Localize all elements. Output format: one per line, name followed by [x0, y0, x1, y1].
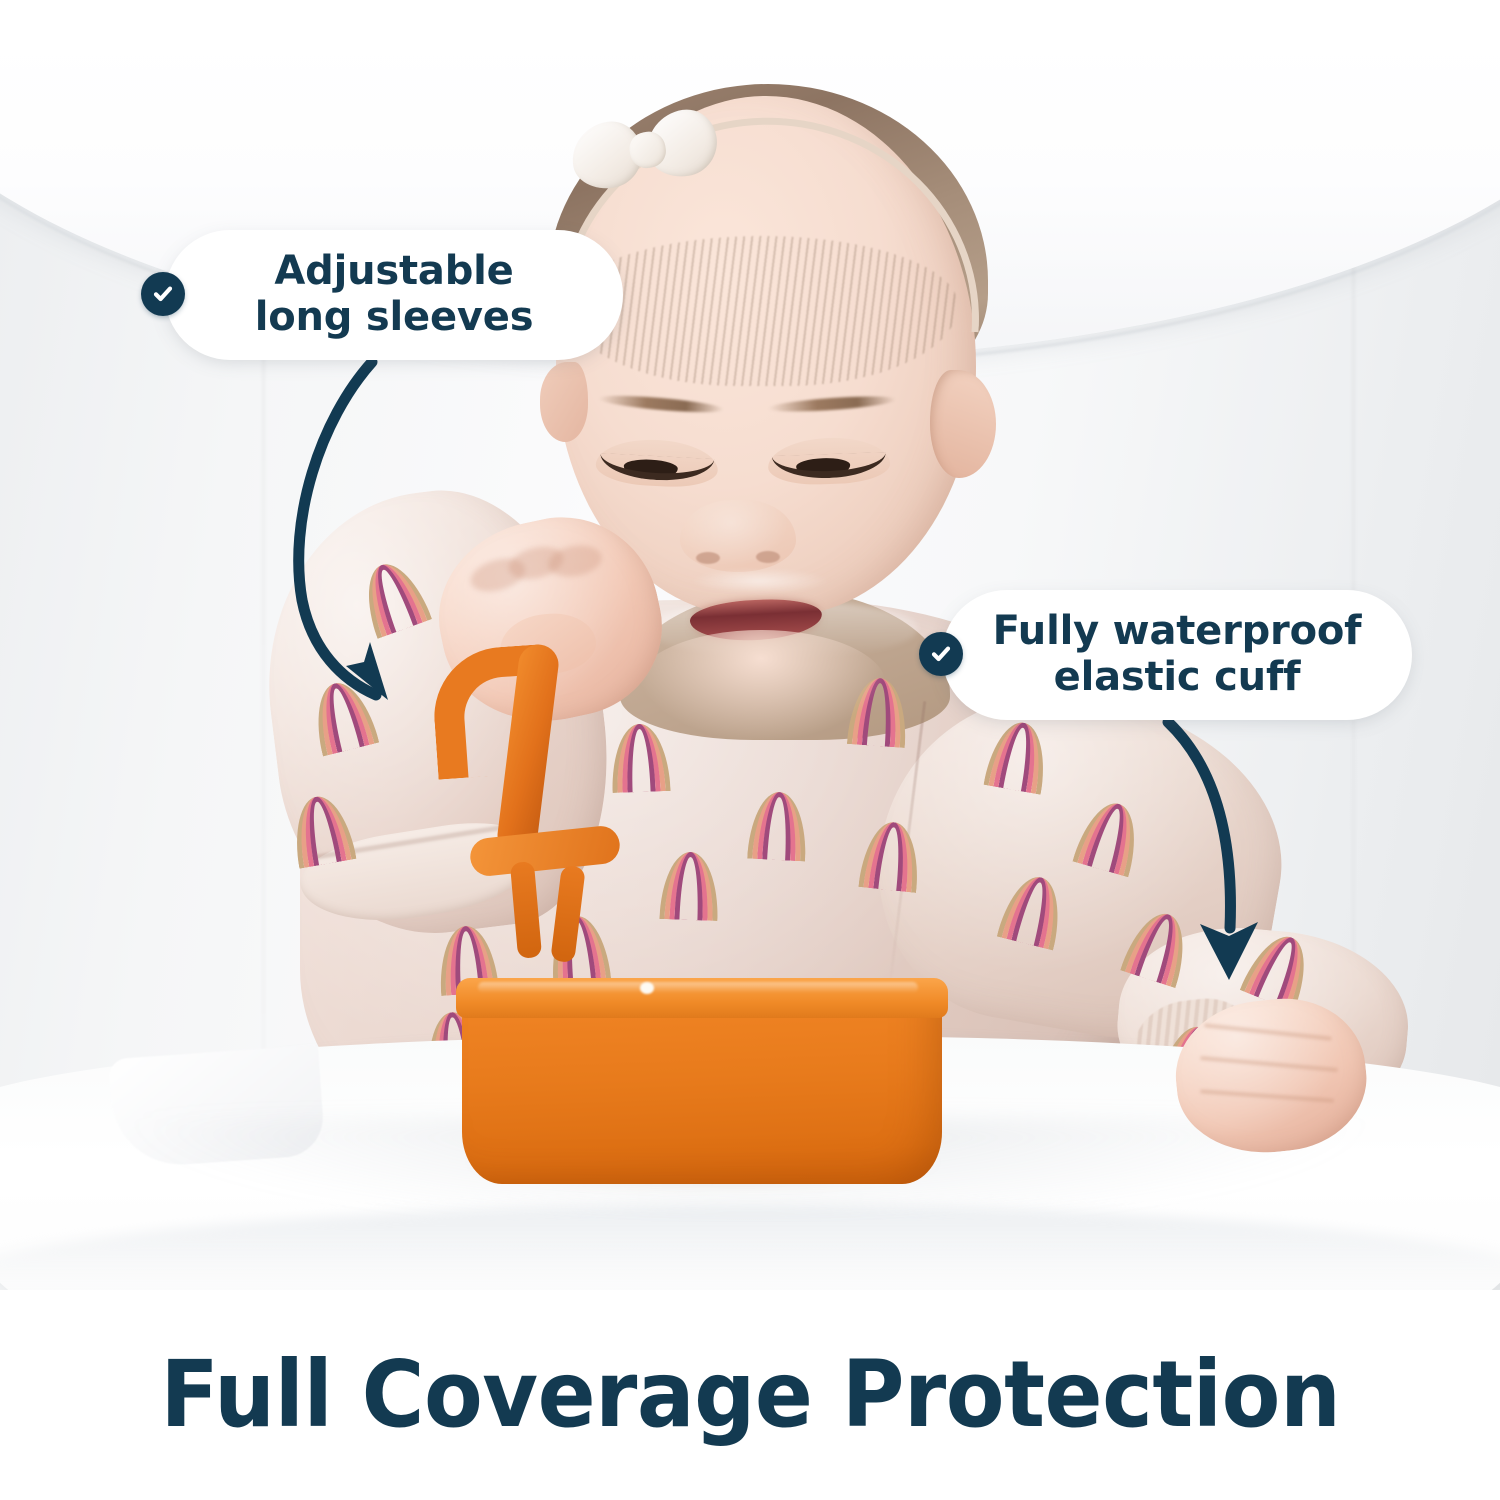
callout-pill-cuff[interactable]: Fully waterproof elastic cuff — [942, 590, 1412, 720]
baby-ear-right — [930, 370, 996, 478]
check-circle-icon — [141, 272, 185, 316]
baby-chin — [636, 630, 886, 740]
training-fork — [424, 644, 634, 974]
headline-band: Full Coverage Protection — [0, 1290, 1500, 1500]
nostril-right — [756, 551, 780, 563]
rainbow-motif — [747, 825, 807, 862]
baby-eye-left — [595, 437, 719, 489]
upper-lip-highlight — [690, 568, 830, 594]
baby-ear-left — [540, 362, 588, 442]
product-lifestyle-photo: Adjustable long sleeves Fully waterproof… — [0, 0, 1500, 1290]
callout-label-cuff: Fully waterproof elastic cuff — [993, 609, 1362, 700]
nostril-left — [696, 552, 720, 564]
suction-bowl-rim-highlight — [478, 982, 918, 993]
callout-pill-sleeves[interactable]: Adjustable long sleeves — [165, 230, 623, 360]
headline-text: Full Coverage Protection — [160, 1349, 1340, 1441]
fork-tine — [550, 865, 586, 963]
fork-choke-guard — [468, 824, 621, 877]
rainbow-motif — [659, 885, 718, 921]
rainbow-motif — [858, 853, 919, 893]
baby-eye-right — [767, 436, 891, 486]
bowl-food-speck — [640, 982, 654, 994]
marketing-image: Adjustable long sleeves Fully waterproof… — [0, 0, 1500, 1500]
check-circle-icon — [919, 632, 963, 676]
fork-tine — [510, 861, 542, 959]
callout-label-sleeves: Adjustable long sleeves — [255, 249, 534, 340]
